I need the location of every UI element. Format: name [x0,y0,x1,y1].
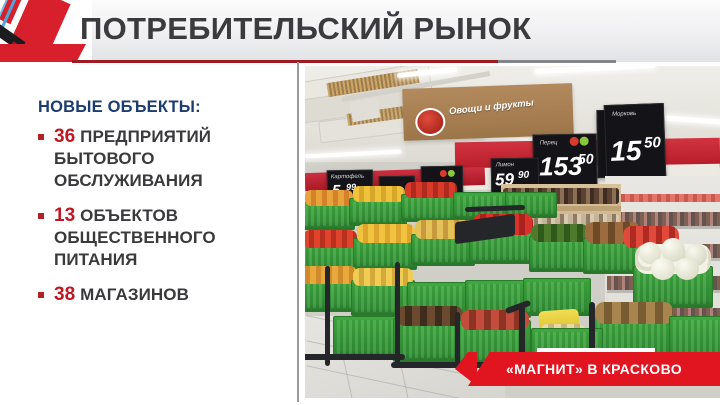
sidebar-subheading: НОВЫЕ ОБЪЕКТЫ: [38,98,201,117]
photo-caption-text: «МАГНИТ» В КРАСКОВО [506,361,682,377]
price-board: Морковь 15 50 [604,103,667,179]
produce-pile-apples [353,268,413,286]
list-item-number: 36 [54,126,75,147]
price-board: Перец 153 50 [533,133,598,190]
price-board-cents: 90 [518,170,529,181]
produce-pile-oranges [305,266,357,284]
produce-pile-cucumbers [531,224,589,242]
fruit-logo-icon [415,108,446,137]
bullet-square-icon [38,134,44,140]
header-rule-gray [498,60,616,63]
list-item-number: 38 [54,284,75,305]
bullet-square-icon [38,292,44,298]
produce-dot-icon [440,170,447,177]
pepper-icon [570,137,579,146]
header-rule-red [72,60,498,63]
produce-crate [305,202,355,230]
price-board-label: Лимон [496,162,514,168]
slide-header: ПОТРЕБИТЕЛЬСКИЙ РЫНОК [0,0,720,62]
list-item-number: 13 [54,205,75,226]
display-frame-bar [395,262,400,368]
bullet-square-icon [38,213,44,219]
produce-pile-tomatoes [305,230,357,248]
produce-pile-potatoes [595,302,673,324]
list-item: 36 ПРЕДПРИЯТИЙ БЫТОВОГО ОБСЛУЖИВАНИЯ [38,126,288,192]
cabbage-head [675,258,699,280]
display-base-bar [305,354,405,360]
cabbage-head [651,258,675,280]
display-frame-bar [455,312,460,368]
display-frame-bar [325,266,330,366]
list-item-label: ОБЪЕКТОВ ОБЩЕСТВЕННОГО ПИТАНИЯ [54,206,216,269]
photo-caption-banner: «МАГНИТ» В КРАСКОВО [468,352,720,386]
list-item-label: МАГАЗИНОВ [80,285,189,304]
list-item: 13 ОБЪЕКТОВ ОБЩЕСТВЕННОГО ПИТАНИЯ [38,205,288,271]
price-board-label: Перец [540,140,558,146]
pepper-icon [580,137,589,146]
department-sign-text: Овощи и фрукты [448,97,534,117]
produce-crate [333,316,401,358]
list-item: 38 МАГАЗИНОВ [38,284,288,306]
caption-top-accent [537,348,655,352]
produce-dot-icon [448,170,455,177]
price-board-value: 15 [610,135,642,168]
produce-crate [349,198,407,226]
price-board-cents: 50 [644,134,661,152]
slide-root: ПОТРЕБИТЕЛЬСКИЙ РЫНОК НОВЫЕ ОБЪЕКТЫ: 36 … [0,0,720,405]
shelf-price-strip [607,194,720,202]
price-board-label: Морковь [612,111,636,118]
produce-pile-lemons [353,186,405,202]
list-item-label: ПРЕДПРИЯТИЙ БЫТОВОГО ОБСЛУЖИВАНИЯ [54,127,211,190]
page-title: ПОТРЕБИТЕЛЬСКИЙ РЫНОК [80,11,531,47]
price-board-label: Картофель [331,174,364,181]
produce-pile-tomatoes [405,182,457,198]
produce-crate [401,194,459,222]
vertical-divider [297,62,299,402]
sidebar-bullet-list: 36 ПРЕДПРИЯТИЙ БЫТОВОГО ОБСЛУЖИВАНИЯ 13 … [38,126,288,319]
content-sidebar: НОВЫЕ ОБЪЕКТЫ: 36 ПРЕДПРИЯТИЙ БЫТОВОГО О… [0,66,296,405]
price-board-value: 153 [539,151,583,183]
photo-bottom-edge [305,398,720,405]
produce-pile-potatoes [397,306,463,326]
produce-pile-oranges [305,190,353,206]
price-board-cents: 50 [578,151,594,167]
department-sign: Овощи и фрукты [402,83,574,141]
produce-pile-apples [357,224,415,243]
